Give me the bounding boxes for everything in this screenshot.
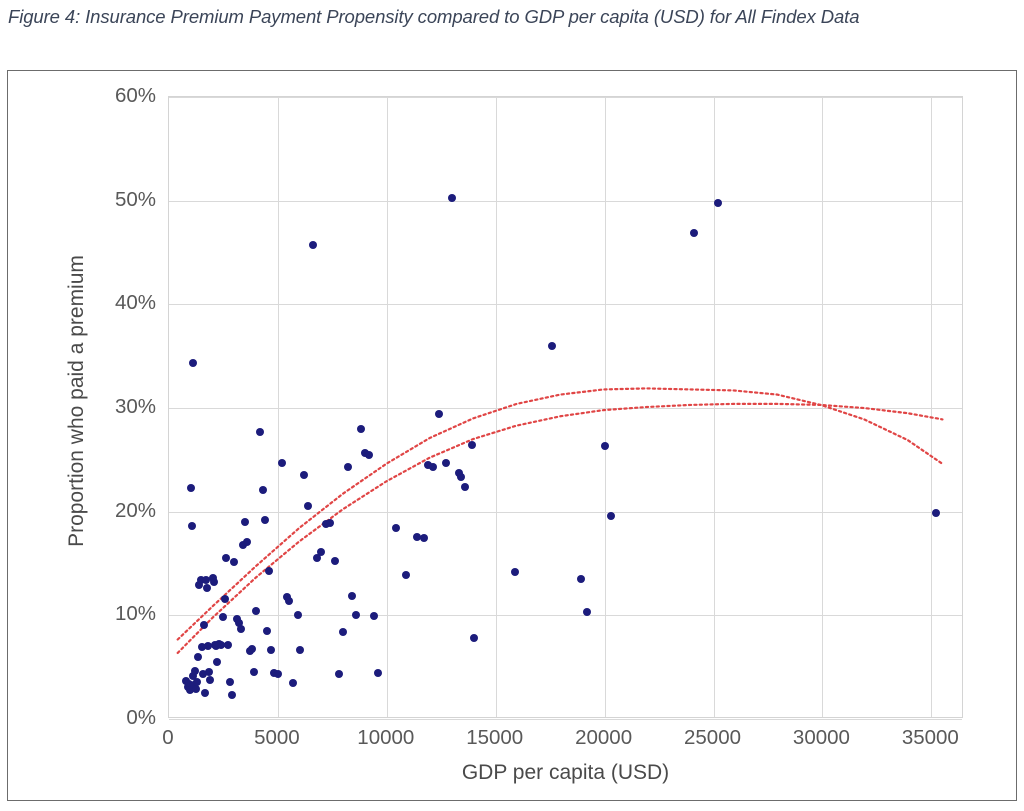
data-point — [278, 459, 286, 467]
data-point — [392, 524, 400, 532]
x-axis-ticks: 05000100001500020000250003000035000 — [168, 726, 963, 756]
data-point — [194, 653, 202, 661]
x-tick-label: 35000 — [902, 726, 959, 750]
data-point — [304, 502, 312, 510]
y-tick-label: 0% — [18, 706, 168, 730]
data-point — [470, 634, 478, 642]
data-point — [248, 645, 256, 653]
data-point — [420, 534, 428, 542]
data-point — [326, 519, 334, 527]
data-point — [261, 516, 269, 524]
data-point — [294, 611, 302, 619]
y-tick-label: 10% — [18, 602, 168, 626]
gridline-horizontal — [169, 719, 962, 720]
data-point — [265, 567, 273, 575]
data-point — [402, 571, 410, 579]
x-tick-label: 10000 — [357, 726, 414, 750]
data-point — [352, 611, 360, 619]
data-point — [335, 670, 343, 678]
data-point — [243, 538, 251, 546]
data-point — [193, 678, 201, 686]
x-tick-label: 30000 — [793, 726, 850, 750]
data-point — [461, 483, 469, 491]
data-point — [252, 607, 260, 615]
data-point — [224, 641, 232, 649]
data-point — [932, 509, 940, 517]
data-point — [300, 471, 308, 479]
data-point — [357, 425, 365, 433]
data-point — [203, 584, 211, 592]
figure-caption: Figure 4: Insurance Premium Payment Prop… — [8, 4, 1016, 30]
data-point — [250, 668, 258, 676]
y-tick-label: 30% — [18, 395, 168, 419]
y-tick-label: 60% — [18, 84, 168, 108]
data-point — [348, 592, 356, 600]
plot-area — [168, 96, 963, 718]
data-point — [222, 554, 230, 562]
data-point — [690, 229, 698, 237]
data-point — [548, 342, 556, 350]
scatter-chart: 0%10%20%30%40%50%60% 0500010000150002000… — [8, 71, 1018, 802]
data-point — [577, 575, 585, 583]
y-axis-title: Proportion who paid a premium — [65, 90, 89, 712]
data-point — [457, 473, 465, 481]
data-point — [511, 568, 519, 576]
data-point — [230, 558, 238, 566]
data-point — [309, 241, 317, 249]
x-tick-label: 5000 — [254, 726, 300, 750]
x-tick-label: 15000 — [466, 726, 523, 750]
y-tick-label: 50% — [18, 188, 168, 212]
data-point — [192, 685, 200, 693]
data-point — [274, 670, 282, 678]
data-point — [206, 676, 214, 684]
data-point — [187, 484, 195, 492]
data-point — [344, 463, 352, 471]
data-point — [213, 658, 221, 666]
data-point — [259, 486, 267, 494]
data-point — [468, 441, 476, 449]
data-point — [339, 628, 347, 636]
data-point — [285, 597, 293, 605]
data-point — [607, 512, 615, 520]
data-point — [601, 442, 609, 450]
data-point — [429, 463, 437, 471]
data-point — [256, 428, 264, 436]
data-point — [267, 646, 275, 654]
data-point — [189, 359, 197, 367]
x-axis-title: GDP per capita (USD) — [168, 761, 963, 785]
data-point — [263, 627, 271, 635]
data-point — [226, 678, 234, 686]
data-point — [374, 669, 382, 677]
data-point — [210, 578, 218, 586]
data-point — [714, 199, 722, 207]
data-point — [201, 689, 209, 697]
x-tick-label: 20000 — [575, 726, 632, 750]
x-tick-label: 0 — [162, 726, 173, 750]
data-point — [331, 557, 339, 565]
data-point — [200, 621, 208, 629]
data-point — [191, 667, 199, 675]
data-point — [237, 625, 245, 633]
data-point — [188, 522, 196, 530]
data-points-layer — [169, 97, 962, 717]
data-point — [442, 459, 450, 467]
data-point — [296, 646, 304, 654]
y-tick-label: 40% — [18, 291, 168, 315]
data-point — [370, 612, 378, 620]
x-tick-label: 25000 — [684, 726, 741, 750]
y-tick-label: 20% — [18, 499, 168, 523]
data-point — [221, 595, 229, 603]
data-point — [241, 518, 249, 526]
data-point — [317, 548, 325, 556]
figure-frame: 0%10%20%30%40%50%60% 0500010000150002000… — [7, 70, 1017, 801]
data-point — [448, 194, 456, 202]
data-point — [219, 613, 227, 621]
data-point — [365, 451, 373, 459]
data-point — [289, 679, 297, 687]
data-point — [583, 608, 591, 616]
data-point — [228, 691, 236, 699]
data-point — [435, 410, 443, 418]
